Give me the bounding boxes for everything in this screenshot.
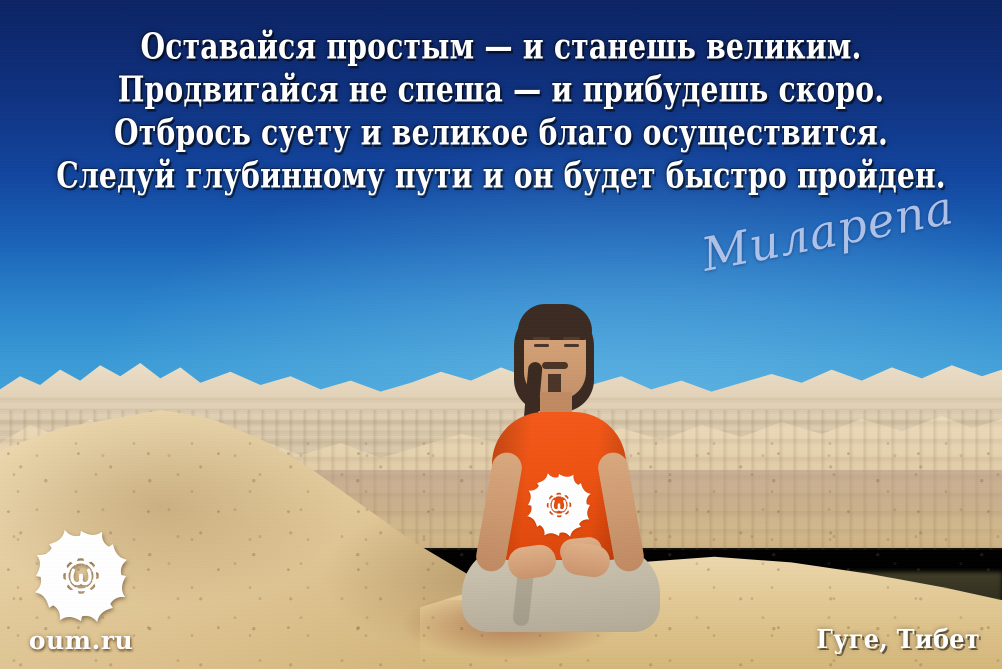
eye-right-closed — [564, 344, 579, 347]
quote-poster: Оставайся простым — и станешь великим. П… — [0, 0, 1002, 669]
meditating-person — [430, 300, 690, 630]
location-caption: Гуге, Тибет — [816, 623, 980, 655]
moustache — [542, 362, 568, 369]
eyebrow-left — [533, 337, 550, 340]
hair-top — [518, 304, 592, 340]
brand-label: oum.ru — [22, 626, 140, 655]
quote-text: Оставайся простым — и станешь великим. П… — [0, 22, 1002, 194]
brand-watermark[interactable]: oum.ru — [22, 528, 140, 656]
quote-line-4: Следуй глубинному пути и он будет быстро… — [30, 151, 972, 202]
oum-mandala-icon — [31, 528, 131, 624]
shirt-oum-mandala-icon — [526, 472, 592, 538]
eye-left-closed — [534, 344, 549, 347]
eyebrow-right — [563, 337, 580, 340]
